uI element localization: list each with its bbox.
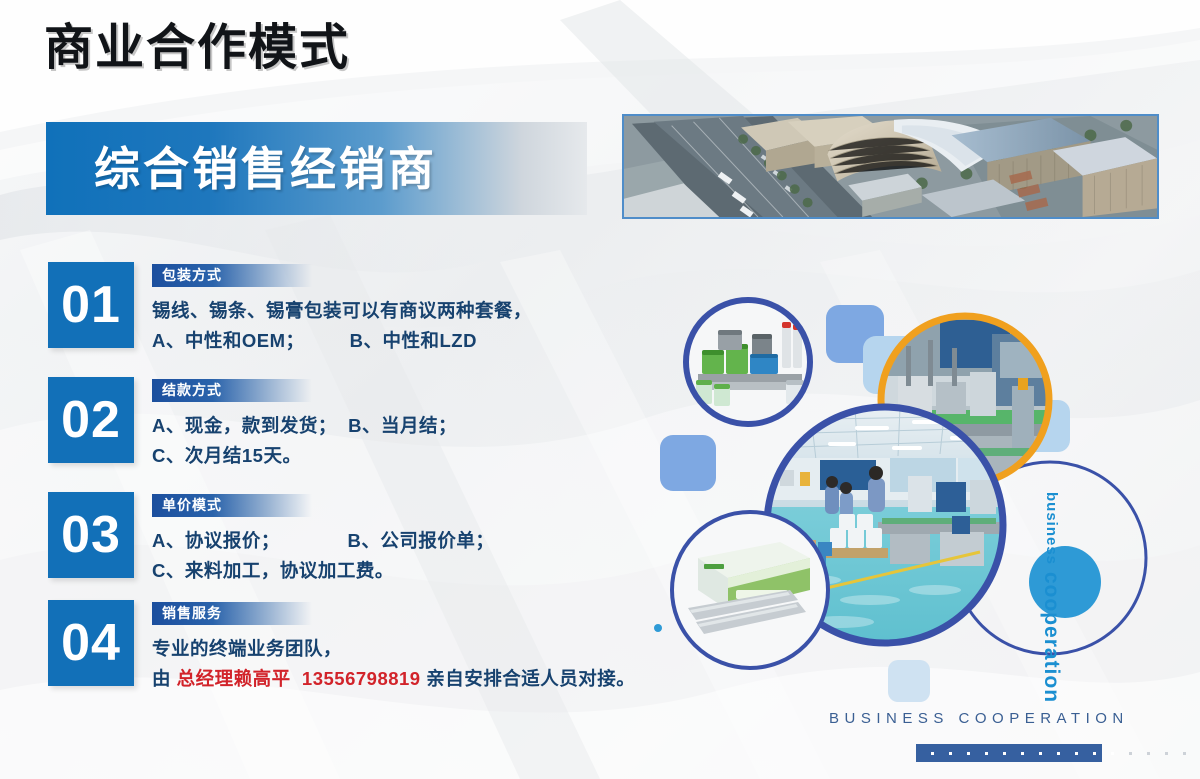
decor-square: [888, 660, 930, 702]
item-number-badge: 04: [48, 600, 134, 686]
worker-figure: [825, 476, 839, 514]
headline-banner-text: 综合销售经销商: [94, 146, 437, 192]
item-body: 包装方式 锡线、锡条、锡膏包装可以有商议两种套餐， A、中性和OEM； B、中性…: [152, 262, 532, 356]
item-body: 销售服务 专业的终端业务团队， 由 总经理赖高平 13556798819 亲自安…: [152, 600, 635, 694]
item-line: A、协议报价； B、公司报价单；: [152, 530, 494, 551]
photo-collage: [640, 290, 1180, 710]
item-line: A、中性和OEM； B、中性和LZD: [152, 330, 477, 351]
poster-canvas: 商业合作模式 综合销售经销商: [0, 0, 1200, 779]
list-item-01: 01 包装方式 锡线、锡条、锡膏包装可以有商议两种套餐， A、中性和OEM； B…: [48, 262, 532, 356]
decor-square: [660, 435, 716, 491]
item-text-lines: 专业的终端业务团队， 由 总经理赖高平 13556798819 亲自安排合适人员…: [152, 634, 635, 694]
contact-prefix: 由: [152, 668, 177, 689]
package-circle-photo: [672, 512, 828, 668]
item-text-lines: 锡线、锡条、锡膏包装可以有商议两种套餐， A、中性和OEM； B、中性和LZD: [152, 296, 532, 356]
vertical-label-bottom: cooperation: [1040, 572, 1063, 703]
item-tag-label: 单价模式: [152, 494, 312, 517]
item-line: C、次月结15天。: [152, 445, 301, 466]
item-number-badge: 02: [48, 377, 134, 463]
vertical-label-top: business: [1043, 492, 1060, 565]
item-tag-label: 销售服务: [152, 602, 312, 625]
page-title: 商业合作模式: [44, 24, 350, 73]
item-number-badge: 03: [48, 492, 134, 578]
item-line: C、来料加工，协议加工费。: [152, 560, 394, 581]
contact-suffix: 亲自安排合适人员对接。: [421, 668, 636, 689]
products-circle-photo: [686, 300, 810, 424]
vertical-business-cooperation-label: business cooperation: [1041, 492, 1062, 703]
item-contact-line: 由 总经理赖高平 13556798819 亲自安排合适人员对接。: [152, 668, 635, 689]
item-tag-label: 包装方式: [152, 264, 312, 287]
worker-figure: [840, 482, 853, 518]
item-tag-label: 结款方式: [152, 379, 312, 402]
item-line: A、现金，款到发货； B、当月结；: [152, 415, 457, 436]
item-body: 结款方式 A、现金，款到发货； B、当月结； C、次月结15天。: [152, 377, 457, 471]
aerial-campus-photo: [622, 114, 1159, 219]
footer-dot-bar: [916, 744, 1102, 762]
worker-figure: [868, 466, 885, 512]
footer-dots: [916, 744, 1200, 762]
item-line: 锡线、锡条、锡膏包装可以有商议两种套餐，: [152, 300, 532, 321]
contact-highlight: 总经理赖高平 13556798819: [177, 668, 421, 689]
headline-banner: 综合销售经销商: [46, 122, 587, 215]
list-item-03: 03 单价模式 A、协议报价； B、公司报价单； C、来料加工，协议加工费。: [48, 492, 494, 586]
list-item-02: 02 结款方式 A、现金，款到发货； B、当月结； C、次月结15天。: [48, 377, 457, 471]
item-body: 单价模式 A、协议报价； B、公司报价单； C、来料加工，协议加工费。: [152, 492, 494, 586]
decor-small-dot: [654, 624, 662, 632]
item-number-badge: 01: [48, 262, 134, 348]
footer-caption: BUSINESS COOPERATION: [829, 710, 1129, 727]
list-item-04: 04 销售服务 专业的终端业务团队， 由 总经理赖高平 13556798819 …: [48, 600, 635, 694]
item-text-lines: A、协议报价； B、公司报价单； C、来料加工，协议加工费。: [152, 526, 494, 586]
item-line: 专业的终端业务团队，: [152, 638, 342, 659]
item-text-lines: A、现金，款到发货； B、当月结； C、次月结15天。: [152, 411, 457, 471]
